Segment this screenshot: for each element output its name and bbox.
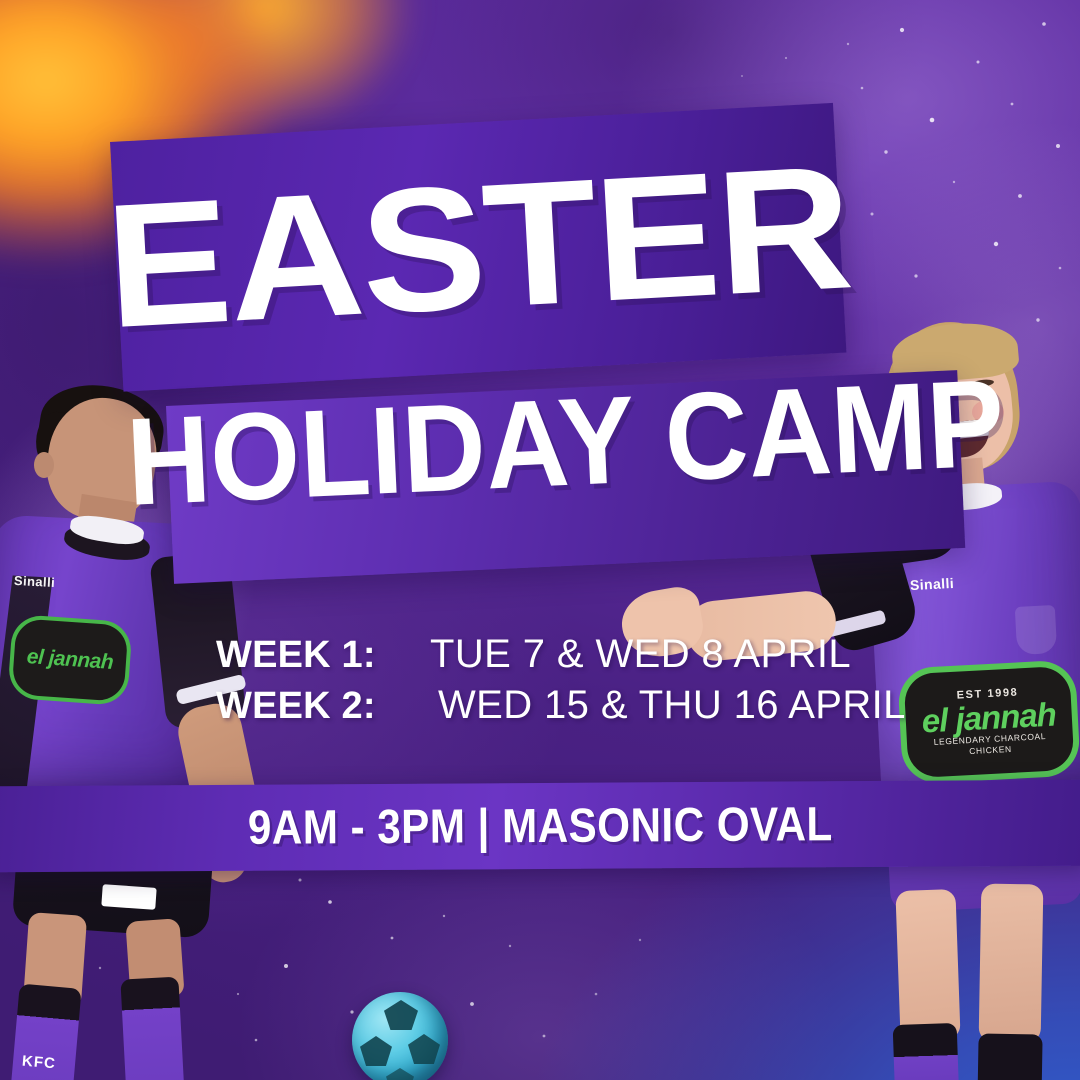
ball-panel (386, 1068, 414, 1080)
jersey-brand-label: Sinalli (14, 573, 56, 590)
jersey-brand-label-right: Sinalli (910, 575, 955, 593)
schedule-row: WEEK 2: WED 15 & THU 16 APRIL (216, 683, 916, 728)
headline-secondary: HOLIDAY CAMP (166, 336, 965, 550)
player-left-shorts-tag (101, 884, 156, 910)
footer-banner: 9AM - 3PM | MASONIC OVAL (0, 780, 1080, 873)
ball-panel (384, 1000, 418, 1030)
player-right-sock-left (893, 1023, 960, 1080)
player-left-ear (34, 452, 54, 478)
ball-panel (360, 1036, 392, 1066)
sponsor-tagline-line-2: CHICKEN (969, 745, 1012, 757)
player-left-sock-right (120, 977, 185, 1080)
jersey-club-crest (1015, 605, 1057, 655)
jersey-sponsor-badge-right: EST 1998 el jannah LEGENDARY CHARCOAL CH… (903, 666, 1074, 779)
schedule-list: WEEK 1: TUE 7 & WED 8 APRIL WEEK 2: WED … (216, 632, 916, 728)
player-right-leg-left (895, 889, 960, 1041)
headline-secondary-text: HOLIDAY CAMP (125, 371, 1007, 515)
schedule-week-dates: WED 15 & THU 16 APRIL (430, 683, 906, 728)
schedule-row: WEEK 1: TUE 7 & WED 8 APRIL (216, 632, 916, 677)
headline-primary-text: EASTER (103, 155, 854, 339)
player-right-sock-right (977, 1033, 1042, 1080)
jersey-sponsor-name: el jannah (26, 645, 114, 675)
schedule-week-label: WEEK 1: (216, 634, 430, 677)
schedule-week-dates: TUE 7 & WED 8 APRIL (430, 632, 851, 677)
footer-text: 9AM - 3PM | MASONIC OVAL (247, 797, 832, 856)
ball-panel (408, 1034, 440, 1064)
soccer-ball (352, 992, 448, 1080)
jersey-sponsor-badge: el jannah (11, 618, 128, 702)
poster-canvas: Sinalli el jannah KFC (0, 0, 1080, 1080)
schedule-week-label: WEEK 2: (216, 685, 430, 728)
sock-sponsor-label: KFC (21, 1053, 56, 1073)
player-right-leg-right (979, 883, 1044, 1042)
